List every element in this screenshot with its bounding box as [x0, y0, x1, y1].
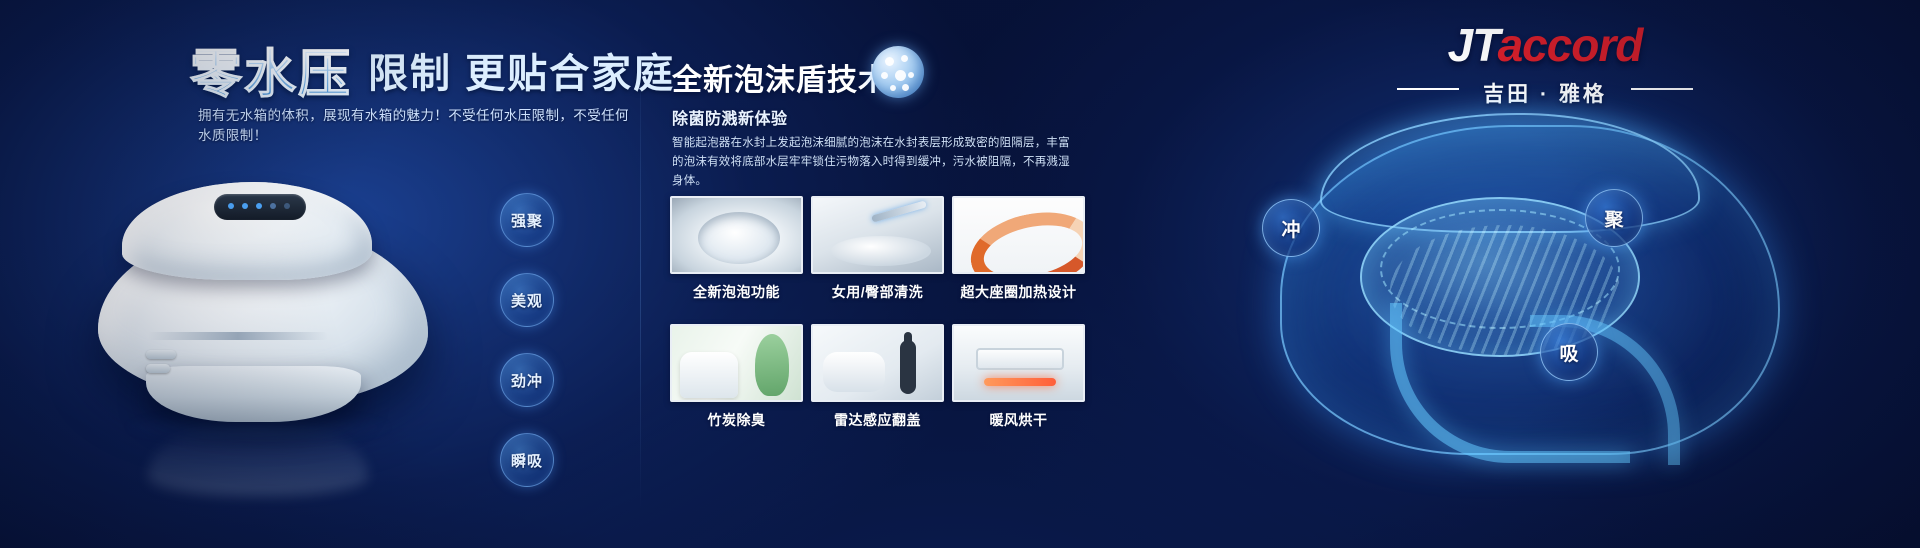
feature-cell[interactable]: 暖风烘干 — [952, 324, 1085, 430]
logo-jt-text: JT — [1448, 19, 1498, 71]
feature-cell[interactable]: 超大座圈加热设计 — [952, 196, 1085, 302]
feature-row-1: 全新泡泡功能 女用/臀部清洗 超大座圈加热设计 — [670, 196, 1086, 302]
brand-logo-chinese: 吉田 · 雅格 — [1385, 78, 1705, 108]
badge-meiguan[interactable]: 美观 — [500, 273, 554, 327]
floor-reflection — [148, 426, 368, 496]
badge-ju[interactable]: 聚 — [1585, 189, 1643, 247]
badge-jinchong[interactable]: 劲冲 — [500, 353, 554, 407]
brand-logo-wordmark: JTaccord — [1385, 22, 1705, 68]
bamboo-charcoal-deodor-thumb[interactable] — [670, 324, 803, 402]
left-badge-list: 强聚 美观 劲冲 瞬吸 — [500, 193, 554, 513]
smart-toilet-product-photo — [88, 130, 468, 450]
promo-banner: 零水压限制 更贴合家庭 拥有无水箱的体积，展现有水箱的魅力！不受任何水压限制，不… — [0, 0, 1920, 548]
panel-divider — [640, 40, 641, 510]
brand-logo: JTaccord 吉田 · 雅格 — [1385, 22, 1705, 96]
logo-rule: 吉田 · 雅格 — [1385, 80, 1705, 96]
middle-panel: 全新泡沫盾技术 除菌防溅新体验 智能起泡器在水封上发起泡沫细腻的泡沫在水封表层形… — [660, 0, 1090, 548]
logo-accord-text: accord — [1498, 19, 1643, 71]
headline-rest: 限制 更贴合家庭 — [368, 41, 675, 99]
left-headline: 零水压限制 更贴合家庭 — [190, 32, 675, 107]
left-panel: 零水压限制 更贴合家庭 拥有无水箱的体积，展现有水箱的魅力！不受任何水压限制，不… — [0, 0, 640, 548]
feature-grid: 全新泡泡功能 女用/臀部清洗 超大座圈加热设计 竹炭除臭 — [670, 196, 1086, 436]
middle-subtitle: 除菌防溅新体验 — [672, 105, 788, 129]
side-button-1 — [146, 350, 176, 359]
badge-chong[interactable]: 冲 — [1262, 199, 1320, 257]
badge-xi[interactable]: 吸 — [1540, 323, 1598, 381]
middle-title: 全新泡沫盾技术 — [672, 55, 889, 99]
feature-row-2: 竹炭除臭 雷达感应翻盖 暖风烘干 — [670, 324, 1086, 430]
feature-caption: 竹炭除臭 — [670, 410, 803, 430]
xray-toilet-cutaway: 冲 聚 吸 — [1240, 105, 1820, 525]
badge-shunxi[interactable]: 瞬吸 — [500, 433, 554, 487]
control-panel-indicator — [214, 194, 306, 220]
feature-cell[interactable]: 女用/臀部清洗 — [811, 196, 944, 302]
feature-cell[interactable]: 竹炭除臭 — [670, 324, 803, 430]
lid-seam — [148, 332, 328, 340]
feature-caption: 超大座圈加热设计 — [952, 282, 1085, 302]
side-button-2 — [146, 364, 170, 373]
headline-highlight: 零水压 — [190, 32, 352, 107]
warm-air-dryer-thumb[interactable] — [952, 324, 1085, 402]
feature-caption: 女用/臀部清洗 — [811, 282, 944, 302]
feature-cell[interactable]: 全新泡泡功能 — [670, 196, 803, 302]
middle-paragraph: 智能起泡器在水封上发起泡沫细腻的泡沫在水封表层形成致密的阻隔层，丰富的泡沫有效将… — [672, 134, 1072, 191]
badge-qiangju[interactable]: 强聚 — [500, 193, 554, 247]
radar-auto-lid-thumb[interactable] — [811, 324, 944, 402]
feature-caption: 雷达感应翻盖 — [811, 410, 944, 430]
feature-cell[interactable]: 雷达感应翻盖 — [811, 324, 944, 430]
washing-nozzle-thumb[interactable] — [811, 196, 944, 274]
foam-bowl-thumb[interactable] — [670, 196, 803, 274]
feature-caption: 全新泡泡功能 — [670, 282, 803, 302]
feature-caption: 暖风烘干 — [952, 410, 1085, 430]
right-panel: JTaccord 吉田 · 雅格 冲 聚 吸 — [1120, 0, 1920, 548]
foam-bubbles-icon — [872, 46, 924, 98]
heated-seat-ring-thumb[interactable] — [952, 196, 1085, 274]
